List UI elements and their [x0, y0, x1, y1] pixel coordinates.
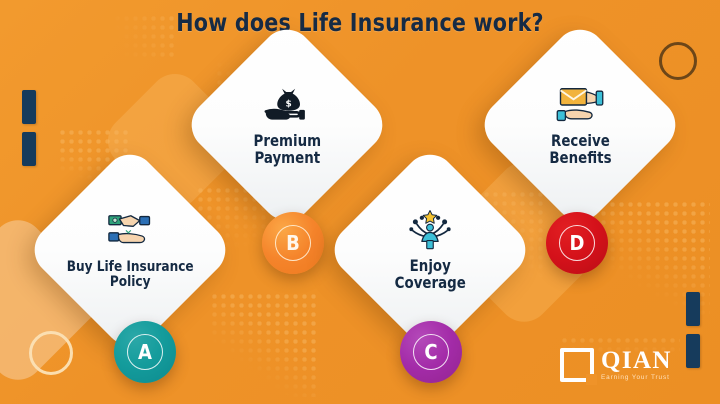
step-card-b-label: Premium Payment: [253, 133, 321, 166]
celebration-person-icon: [404, 208, 456, 252]
brand-logo[interactable]: QIAN Earning Your Trust: [560, 348, 672, 382]
money-handshake-icon: [104, 210, 156, 254]
decorative-bar-left-bottom: [22, 132, 36, 166]
decorative-bar-right-bottom: [686, 334, 700, 368]
step-badge-b[interactable]: B: [262, 212, 324, 274]
step-badge-d-letter: D: [559, 225, 595, 261]
logo-name: QIAN: [601, 348, 672, 373]
step-badge-c[interactable]: C: [400, 321, 462, 383]
step-card-d-label: Receive Benefits: [549, 133, 611, 166]
step-card-d[interactable]: Receive Benefits: [474, 19, 686, 231]
decorative-ring-top-right: [659, 42, 697, 80]
step-badge-d[interactable]: D: [546, 212, 608, 274]
money-bag-hand-icon: $: [261, 83, 313, 127]
decorative-bar-left-top: [22, 90, 36, 124]
dot-pattern: [590, 200, 710, 320]
dot-pattern: [210, 292, 320, 397]
svg-text:$: $: [286, 100, 292, 110]
decorative-bar-right-top: [686, 292, 700, 326]
step-badge-b-letter: B: [275, 225, 311, 261]
logo-mark-icon: [560, 348, 594, 382]
step-card-a-label: Buy Life Insurance Policy: [67, 260, 194, 290]
step-badge-a[interactable]: A: [114, 321, 176, 383]
step-badge-a-letter: A: [127, 334, 163, 370]
step-badge-c-letter: C: [413, 334, 449, 370]
step-card-c-label: Enjoy Coverage: [394, 258, 465, 291]
logo-tagline: Earning Your Trust: [601, 375, 672, 381]
envelope-hand-icon: [554, 83, 606, 127]
infographic-canvas: How does Life Insurance work? Buy Life I…: [0, 0, 720, 404]
